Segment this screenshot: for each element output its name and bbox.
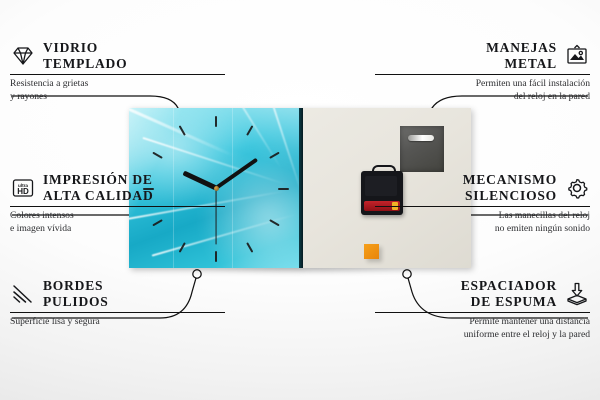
feature-polished-edges: Bordes Pulidos Superficie lisa y segura [10,278,225,329]
feature-title-line1: Espaciador [461,278,557,293]
feature-title-line2: Silencioso [463,188,557,203]
divider [375,206,590,207]
feature-foam-spacer: Espaciador De espuma Permite mantener un… [375,278,590,341]
feature-metal-hangers: Manejas Metal Permiten una fácil instala… [375,40,590,103]
feature-subtitle: Colores intensos e imagen vívida [10,210,225,235]
feature-subtitle: Superficie lisa y segura [10,316,225,328]
hour-tick [152,152,163,159]
hour-tick [179,125,186,136]
feature-title-line2: Templado [43,56,127,71]
feature-subtitle: Resistencia a grietas y rayones [10,78,225,103]
bevel-lines-icon [10,281,36,307]
infographic-canvas: Vidrio Templado Resistencia a grietas y … [0,0,600,400]
feature-title-line1: Vidrio [43,40,127,55]
metal-hanger-plate [400,126,444,172]
feature-title-line2: Metal [486,56,557,71]
hour-tick [246,242,253,253]
foam-spacer-pad [364,244,379,259]
hour-tick [269,152,280,159]
hour-tick [179,242,186,253]
picture-frame-hanger-icon [564,43,590,69]
feature-high-quality-print: ultra HD Impresión de Alta calidad Color… [10,172,225,235]
feature-title-line2: Pulidos [43,294,109,309]
hour-tick [269,219,280,226]
divider [10,312,225,313]
feature-subtitle: Permite mantener una distancia uniforme … [375,316,590,341]
feature-silent-mechanism: Mecanismo Silencioso Las manecillas del … [375,172,590,235]
hanger-slot [408,135,434,141]
feature-tempered-glass: Vidrio Templado Resistencia a grietas y … [10,40,225,103]
diamond-icon [10,43,36,69]
feature-subtitle: Las manecillas del reloj no emiten ningú… [375,210,590,235]
feature-title-line1: Manejas [486,40,557,55]
hour-tick [215,251,217,262]
feature-title-line1: Impresión de [43,172,154,187]
svg-text:HD: HD [17,187,29,196]
hour-tick [215,116,217,127]
divider [10,74,225,75]
feature-subtitle: Permiten una fácil instalación del reloj… [375,78,590,103]
feature-title-line1: Mecanismo [463,172,557,187]
hour-tick [246,125,253,136]
arrow-down-pad-icon [564,281,590,307]
divider [375,312,590,313]
feature-title-line2: Alta calidad [43,188,154,203]
divider [10,206,225,207]
feature-title-line1: Bordes [43,278,109,293]
feature-title-line2: De espuma [461,294,557,309]
divider [375,74,590,75]
gear-icon [564,175,590,201]
hour-tick [278,188,289,190]
ultra-hd-icon: ultra HD [10,175,36,201]
